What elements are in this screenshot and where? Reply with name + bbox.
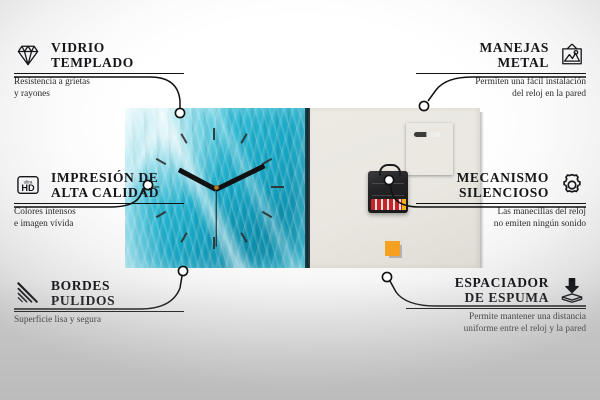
- diamond-icon: [14, 41, 42, 69]
- feature-manejas-metal: MANEJAS METAL Permiten una fácil instala…: [416, 40, 586, 100]
- feature-desc: Permiten una fácil instalación: [416, 77, 586, 89]
- feature-divider: [14, 73, 184, 74]
- clock-tick: [213, 128, 215, 140]
- feature-divider: [14, 203, 184, 204]
- feature-bordes-pulidos: BORDES PULIDOS Superficie lisa y segura: [14, 278, 184, 327]
- foam-spacer-arrow-icon: [558, 276, 586, 304]
- feature-vidrio-templado: VIDRIO TEMPLADO Resistencia a grietas y …: [14, 40, 184, 100]
- ultra-hd-badge-icon: ultra HD: [14, 171, 42, 199]
- gear-icon: [558, 171, 586, 199]
- feature-heading-row: MECANISMO SILENCIOSO: [416, 170, 586, 200]
- feature-impresion-alta-calidad: ultra HD IMPRESIÓN DE ALTA CALIDAD Color…: [14, 170, 184, 230]
- clock-hands-hub: [214, 185, 219, 190]
- feature-desc: Colores intensos: [14, 207, 184, 219]
- feature-title: ESPACIADOR DE ESPUMA: [455, 275, 549, 305]
- clock-tick: [271, 186, 284, 188]
- feature-heading-row: BORDES PULIDOS: [14, 278, 184, 308]
- feature-divider: [14, 311, 184, 312]
- feature-mecanismo-silencioso: MECANISMO SILENCIOSO Las manecillas del …: [416, 170, 586, 230]
- feature-divider: [416, 203, 586, 204]
- framed-picture-hanger-icon: [558, 41, 586, 69]
- aa-battery: [371, 199, 405, 210]
- feature-desc: Las manecillas del reloj: [416, 207, 586, 219]
- feature-desc: y rayones: [14, 89, 184, 101]
- movement-seam: [372, 195, 404, 196]
- feature-heading-row: MANEJAS METAL: [416, 40, 586, 70]
- hd-label: HD: [21, 183, 35, 193]
- orange-foam-spacer: [385, 241, 400, 256]
- feature-title: IMPRESIÓN DE ALTA CALIDAD: [51, 170, 159, 200]
- feature-desc: Superficie lisa y segura: [14, 315, 184, 327]
- feature-espaciador-espuma: ESPACIADOR DE ESPUMA Permite mantener un…: [406, 275, 586, 335]
- feature-divider: [416, 73, 586, 74]
- feature-desc: uniforme entre el reloj y la pared: [406, 324, 586, 336]
- movement-seam: [372, 183, 404, 184]
- feature-desc: no emiten ningún sonido: [416, 219, 586, 231]
- feature-desc: del reloj en la pared: [416, 89, 586, 101]
- feature-heading-row: ultra HD IMPRESIÓN DE ALTA CALIDAD: [14, 170, 184, 200]
- feature-title: VIDRIO TEMPLADO: [51, 40, 134, 70]
- feature-title: MECANISMO SILENCIOSO: [457, 170, 549, 200]
- polished-edge-icon: [14, 279, 42, 307]
- feature-desc: e imagen vívida: [14, 219, 184, 231]
- hanger-keyhole-slot: [414, 132, 440, 137]
- feature-divider: [406, 308, 586, 309]
- feature-desc: Resistencia a grietas: [14, 77, 184, 89]
- feature-heading-row: ESPACIADOR DE ESPUMA: [406, 275, 586, 305]
- movement-hanger-loop: [379, 164, 401, 176]
- feature-desc: Permite mantener una distancia: [406, 312, 586, 324]
- quartz-movement: [368, 171, 408, 213]
- metal-hanger-plate: [406, 123, 453, 175]
- clock-second-hand: [215, 188, 216, 246]
- feature-title: BORDES PULIDOS: [51, 278, 115, 308]
- infographic-canvas: VIDRIO TEMPLADO Resistencia a grietas y …: [0, 0, 600, 400]
- feature-title: MANEJAS METAL: [480, 40, 549, 70]
- feature-heading-row: VIDRIO TEMPLADO: [14, 40, 184, 70]
